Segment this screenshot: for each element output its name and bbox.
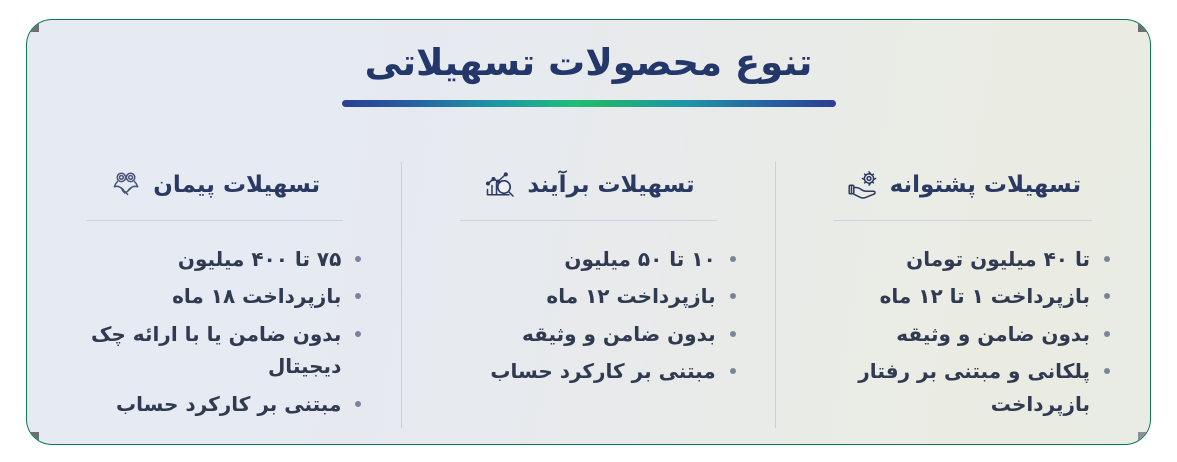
list-item: مبتنی بر کارکرد حساب <box>61 388 367 420</box>
column-header-barayand: تسهیلات برآیند <box>435 162 741 208</box>
list-item: بدون ضامن و وثیقه <box>435 318 741 350</box>
bullet-list-barayand: ۱۰ تا ۵۰ میلیون بازپرداخت ۱۲ ماه بدون ضا… <box>435 243 741 388</box>
product-column-poshtvaneh: تسهیلات پشتوانه تا ۴۰ میلیون تومان بازپر… <box>776 146 1150 436</box>
hand-gear-icon <box>845 167 881 203</box>
list-item: مبتنی بر کارکرد حساب <box>435 355 741 387</box>
corner-mark-bottom-left <box>26 432 39 445</box>
list-item: بدون ضامن و وثیقه <box>810 318 1116 350</box>
product-column-barayand: تسهیلات برآیند ۱۰ تا ۵۰ میلیون بازپرداخت… <box>401 146 775 436</box>
page-title: تنوع محصولات تسهیلاتی <box>27 40 1150 86</box>
column-header-rule-poshtvaneh <box>834 220 1091 221</box>
list-item: پلکانی و مبتنی بر رفتار بازپرداخت <box>810 355 1116 420</box>
page-title-block: تنوع محصولات تسهیلاتی <box>27 40 1150 107</box>
list-item: بدون ضامن یا با ارائه چک دیجیتال <box>61 318 367 383</box>
column-title-barayand: تسهیلات برآیند <box>527 174 694 197</box>
product-column-peyman: تسهیلات پیمان ۷۵ تا ۴۰۰ میلیون بازپرداخت… <box>27 146 401 436</box>
column-header-peyman: تسهیلات پیمان <box>61 162 367 208</box>
corner-mark-top-right <box>1138 19 1151 32</box>
handshake-icon <box>108 167 144 203</box>
column-header-poshtvaneh: تسهیلات پشتوانه <box>810 162 1116 208</box>
list-item: تا ۴۰ میلیون تومان <box>810 243 1116 275</box>
facilities-card-wrapper: تنوع محصولات تسهیلاتی <box>26 19 1151 445</box>
bullet-list-poshtvaneh: تا ۴۰ میلیون تومان بازپرداخت ۱ تا ۱۲ ماه… <box>810 243 1116 420</box>
column-title-peyman: تسهیلات پیمان <box>153 174 320 197</box>
column-header-rule-barayand <box>460 220 717 221</box>
list-item: ۷۵ تا ۴۰۰ میلیون <box>61 243 367 275</box>
list-item: بازپرداخت ۱ تا ۱۲ ماه <box>810 280 1116 312</box>
list-item: ۱۰ تا ۵۰ میلیون <box>435 243 741 275</box>
chart-magnifier-icon <box>482 167 518 203</box>
title-underline-gradient <box>342 100 836 107</box>
bullet-list-peyman: ۷۵ تا ۴۰۰ میلیون بازپرداخت ۱۸ ماه بدون ض… <box>61 243 367 420</box>
list-item: بازپرداخت ۱۸ ماه <box>61 280 367 312</box>
list-item: بازپرداخت ۱۲ ماه <box>435 280 741 312</box>
corner-mark-bottom-right <box>1138 432 1151 445</box>
column-header-rule-peyman <box>86 220 343 221</box>
product-columns: تسهیلات پشتوانه تا ۴۰ میلیون تومان بازپر… <box>27 146 1150 436</box>
corner-mark-top-left <box>26 19 39 32</box>
column-title-poshtvaneh: تسهیلات پشتوانه <box>890 174 1082 197</box>
facilities-card: تنوع محصولات تسهیلاتی <box>26 19 1151 445</box>
